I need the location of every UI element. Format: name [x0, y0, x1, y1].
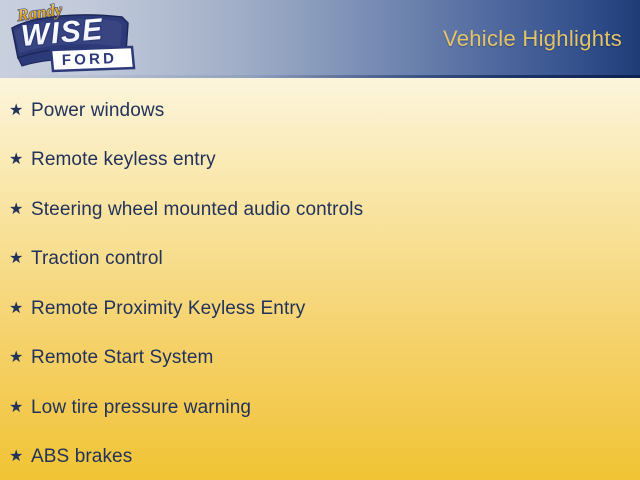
list-item: ★ Remote keyless entry: [0, 136, 640, 186]
list-item-label: Remote Start System: [31, 347, 213, 369]
star-icon: ★: [7, 202, 31, 218]
list-item-label: ABS brakes: [31, 446, 132, 468]
vehicle-highlights-page: Randy WISE FORD Vehicle Highlights ★ Pow…: [0, 0, 640, 480]
star-icon: ★: [7, 251, 31, 267]
vehicle-highlights-list: ★ Power windows ★ Remote keyless entry ★…: [0, 86, 640, 480]
randy-wise-ford-logo-graphic: Randy WISE FORD: [4, 0, 142, 78]
list-item: ★ Remote Start System: [0, 334, 640, 384]
star-icon: ★: [7, 350, 31, 366]
star-icon: ★: [7, 103, 31, 119]
list-item: ★ Steering wheel mounted audio controls: [0, 185, 640, 235]
list-item-label: Remote keyless entry: [31, 149, 216, 171]
list-item-label: Traction control: [31, 248, 163, 270]
dealer-logo: Randy WISE FORD: [4, 0, 142, 78]
list-item: ★ Traction control: [0, 235, 640, 285]
list-item-label: Power windows: [31, 100, 164, 122]
header-divider: [0, 75, 640, 78]
star-icon: ★: [7, 449, 31, 465]
list-item: ★ Power windows: [0, 86, 640, 136]
logo-wordmark-ford: FORD: [62, 50, 118, 69]
star-icon: ★: [7, 301, 31, 317]
list-item-label: Steering wheel mounted audio controls: [31, 199, 363, 221]
list-item-label: Low tire pressure warning: [31, 397, 251, 419]
star-icon: ★: [7, 400, 31, 416]
page-title: Vehicle Highlights: [443, 26, 622, 52]
list-item: ★ Low tire pressure warning: [0, 383, 640, 433]
header-bar: Randy WISE FORD Vehicle Highlights: [0, 0, 640, 78]
list-item: ★ ABS brakes: [0, 433, 640, 480]
list-item-label: Remote Proximity Keyless Entry: [31, 298, 305, 320]
star-icon: ★: [7, 152, 31, 168]
list-item: ★ Remote Proximity Keyless Entry: [0, 284, 640, 334]
